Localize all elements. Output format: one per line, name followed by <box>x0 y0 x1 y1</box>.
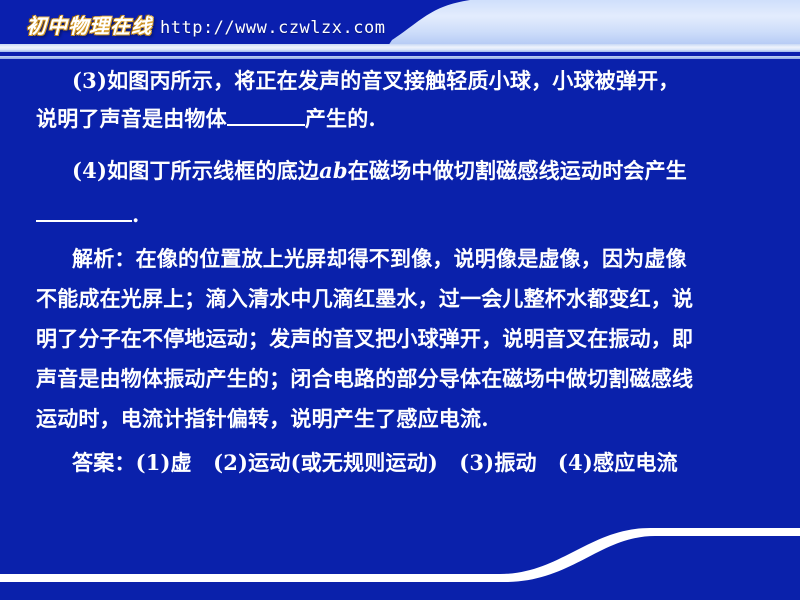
analysis-line-5: 运动时，电流计指针偏转，说明产生了感应电流. <box>36 406 776 432</box>
analysis-line-1: 解析：在像的位置放上光屏却得不到像，说明像是虚像，因为虚像 <box>36 246 776 272</box>
question-3-line-2: 说明了声音是由物体产生的. <box>36 106 776 132</box>
header-banner: 初中物理在线 http://www.czwlzx.com <box>0 0 800 60</box>
question-3-line-1: (3)如图丙所示，将正在发声的音叉接触轻质小球，小球被弹开， <box>36 68 776 94</box>
q3-text-before-blank: 说明了声音是由物体 <box>36 106 227 131</box>
analysis-line-4: 声音是由物体振动产生的；闭合电路的部分导体在磁场中做切割磁感线 <box>36 366 776 392</box>
banner-divider-thin <box>0 56 800 59</box>
question-4-line-2: . <box>36 202 776 228</box>
footer-swoosh-decoration <box>0 492 800 600</box>
question-4-line-1: (4)如图丁所示线框的底边ab在磁场中做切割磁感线运动时会产生 <box>36 158 776 184</box>
banner-divider-thick <box>0 44 800 52</box>
q4-symbol-ab: ab <box>319 158 348 183</box>
q3-text-after-blank: 产生的. <box>305 106 376 131</box>
analysis-line-2: 不能成在光屏上；滴入清水中几滴红墨水，过一会儿整杯水都变红，说 <box>36 286 776 312</box>
q3-answer-blank[interactable] <box>227 124 305 126</box>
q4-period: . <box>132 202 140 227</box>
slide-canvas: 初中物理在线 http://www.czwlzx.com (3)如图丙所示，将正… <box>0 0 800 600</box>
q4-text-part-1: (4)如图丁所示线框的底边 <box>72 158 319 183</box>
q4-text-part-2: 在磁场中做切割磁感线运动时会产生 <box>348 158 687 183</box>
answer-line: 答案：(1)虚 (2)运动(或无规则运动) (3)振动 (4)感应电流 <box>36 450 776 476</box>
q4-answer-blank[interactable] <box>36 220 132 222</box>
analysis-line-3: 明了分子在不停地运动；发声的音叉把小球弹开，说明音叉在振动，即 <box>36 326 776 352</box>
site-url-text: http://www.czwlzx.com <box>160 16 385 40</box>
site-logo: 初中物理在线 <box>26 13 152 39</box>
slide-body: (3)如图丙所示，将正在发声的音叉接触轻质小球，小球被弹开， 说明了声音是由物体… <box>0 62 800 492</box>
